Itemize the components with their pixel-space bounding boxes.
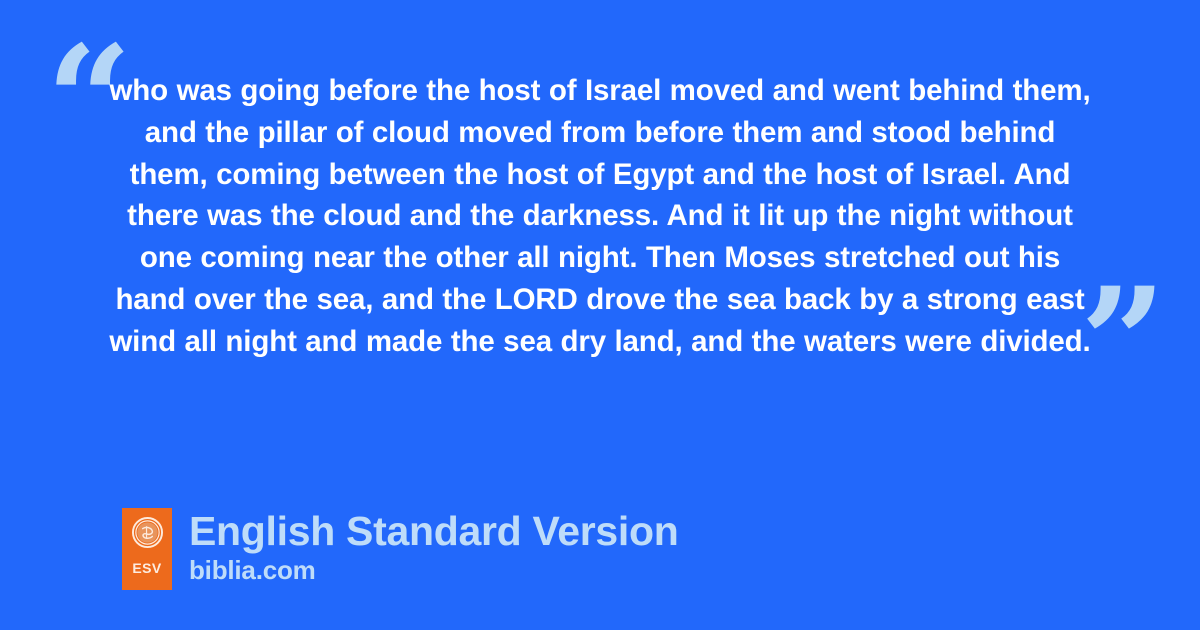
quote-block: who was going before the host of Israel … [108,70,1092,363]
esv-seal-icon [132,517,163,548]
esv-badge-label: ESV [132,561,161,575]
closing-quote-mark-icon: ” [1080,268,1164,418]
bible-verse-card: “ who was going before the host of Israe… [0,0,1200,630]
quote-text: who was going before the host of Israel … [108,70,1092,363]
bible-version-name: English Standard Version [189,509,678,554]
site-name: biblia.com [189,555,678,585]
attribution-text: English Standard Version biblia.com [189,508,678,585]
attribution: ESV English Standard Version biblia.com [122,508,678,590]
esv-logo-badge: ESV [122,508,172,590]
